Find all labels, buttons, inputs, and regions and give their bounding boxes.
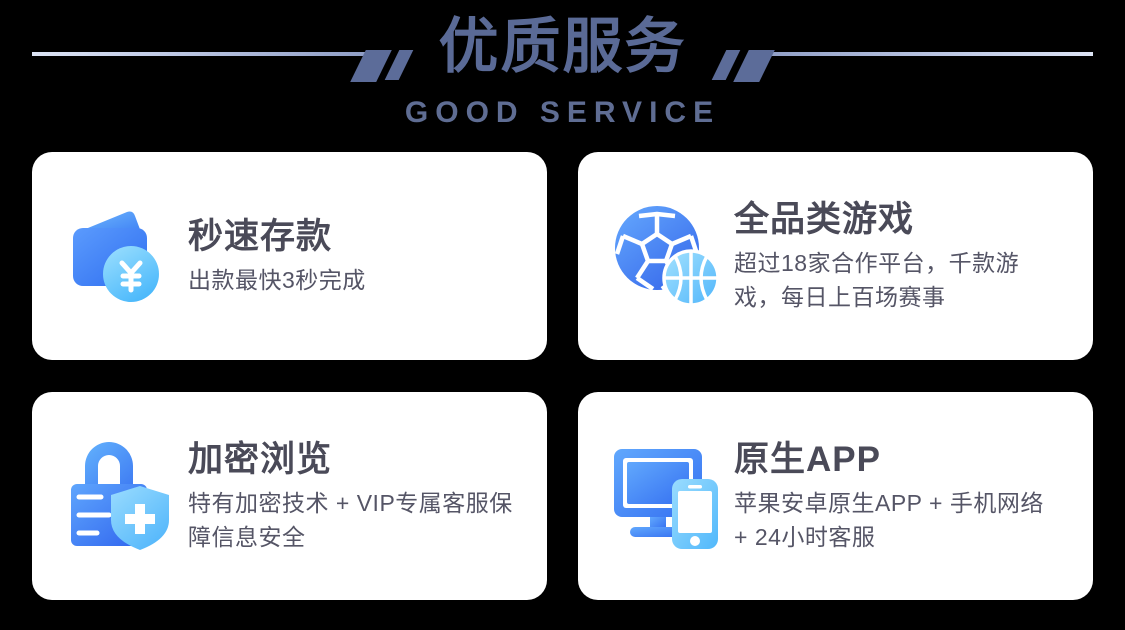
- card-subtitle: 出款最快3秒完成: [188, 263, 529, 297]
- card-title: 秒速存款: [188, 215, 529, 259]
- feature-card-grid: 秒速存款 出款最快3秒完成: [32, 152, 1093, 600]
- card-title: 原生APP: [734, 438, 1075, 482]
- card-title: 全品类游戏: [734, 198, 1075, 242]
- card-text: 秒速存款 出款最快3秒完成: [188, 215, 529, 297]
- soccer-basketball-icon: [608, 196, 726, 316]
- page-subtitle: GOOD SERVICE: [0, 96, 1125, 130]
- card-text: 原生APP 苹果安卓原生APP + 手机网络 + 24小时客服: [734, 438, 1075, 554]
- card-subtitle: 特有加密技术 + VIP专属客服保障信息安全: [188, 486, 518, 554]
- lock-shield-icon: [62, 436, 180, 556]
- page-title: 优质服务: [0, 8, 1125, 86]
- monitor-phone-icon: [608, 436, 726, 556]
- feature-card-games[interactable]: 全品类游戏 超过18家合作平台，千款游戏，每日上百场赛事: [578, 152, 1093, 360]
- feature-card-encryption[interactable]: 加密浏览 特有加密技术 + VIP专属客服保障信息安全: [32, 392, 547, 600]
- card-subtitle: 超过18家合作平台，千款游戏，每日上百场赛事: [734, 246, 1064, 314]
- feature-card-deposit[interactable]: 秒速存款 出款最快3秒完成: [32, 152, 547, 360]
- feature-card-native-app[interactable]: 原生APP 苹果安卓原生APP + 手机网络 + 24小时客服: [578, 392, 1093, 600]
- header: 优质服务 GOOD SERVICE: [0, 0, 1125, 140]
- good-service-panel: 优质服务 GOOD SERVICE: [0, 0, 1125, 630]
- card-text: 加密浏览 特有加密技术 + VIP专属客服保障信息安全: [188, 438, 529, 554]
- wallet-yen-icon: [62, 196, 180, 316]
- card-subtitle: 苹果安卓原生APP + 手机网络 + 24小时客服: [734, 486, 1064, 554]
- card-text: 全品类游戏 超过18家合作平台，千款游戏，每日上百场赛事: [734, 198, 1075, 314]
- card-title: 加密浏览: [188, 438, 529, 482]
